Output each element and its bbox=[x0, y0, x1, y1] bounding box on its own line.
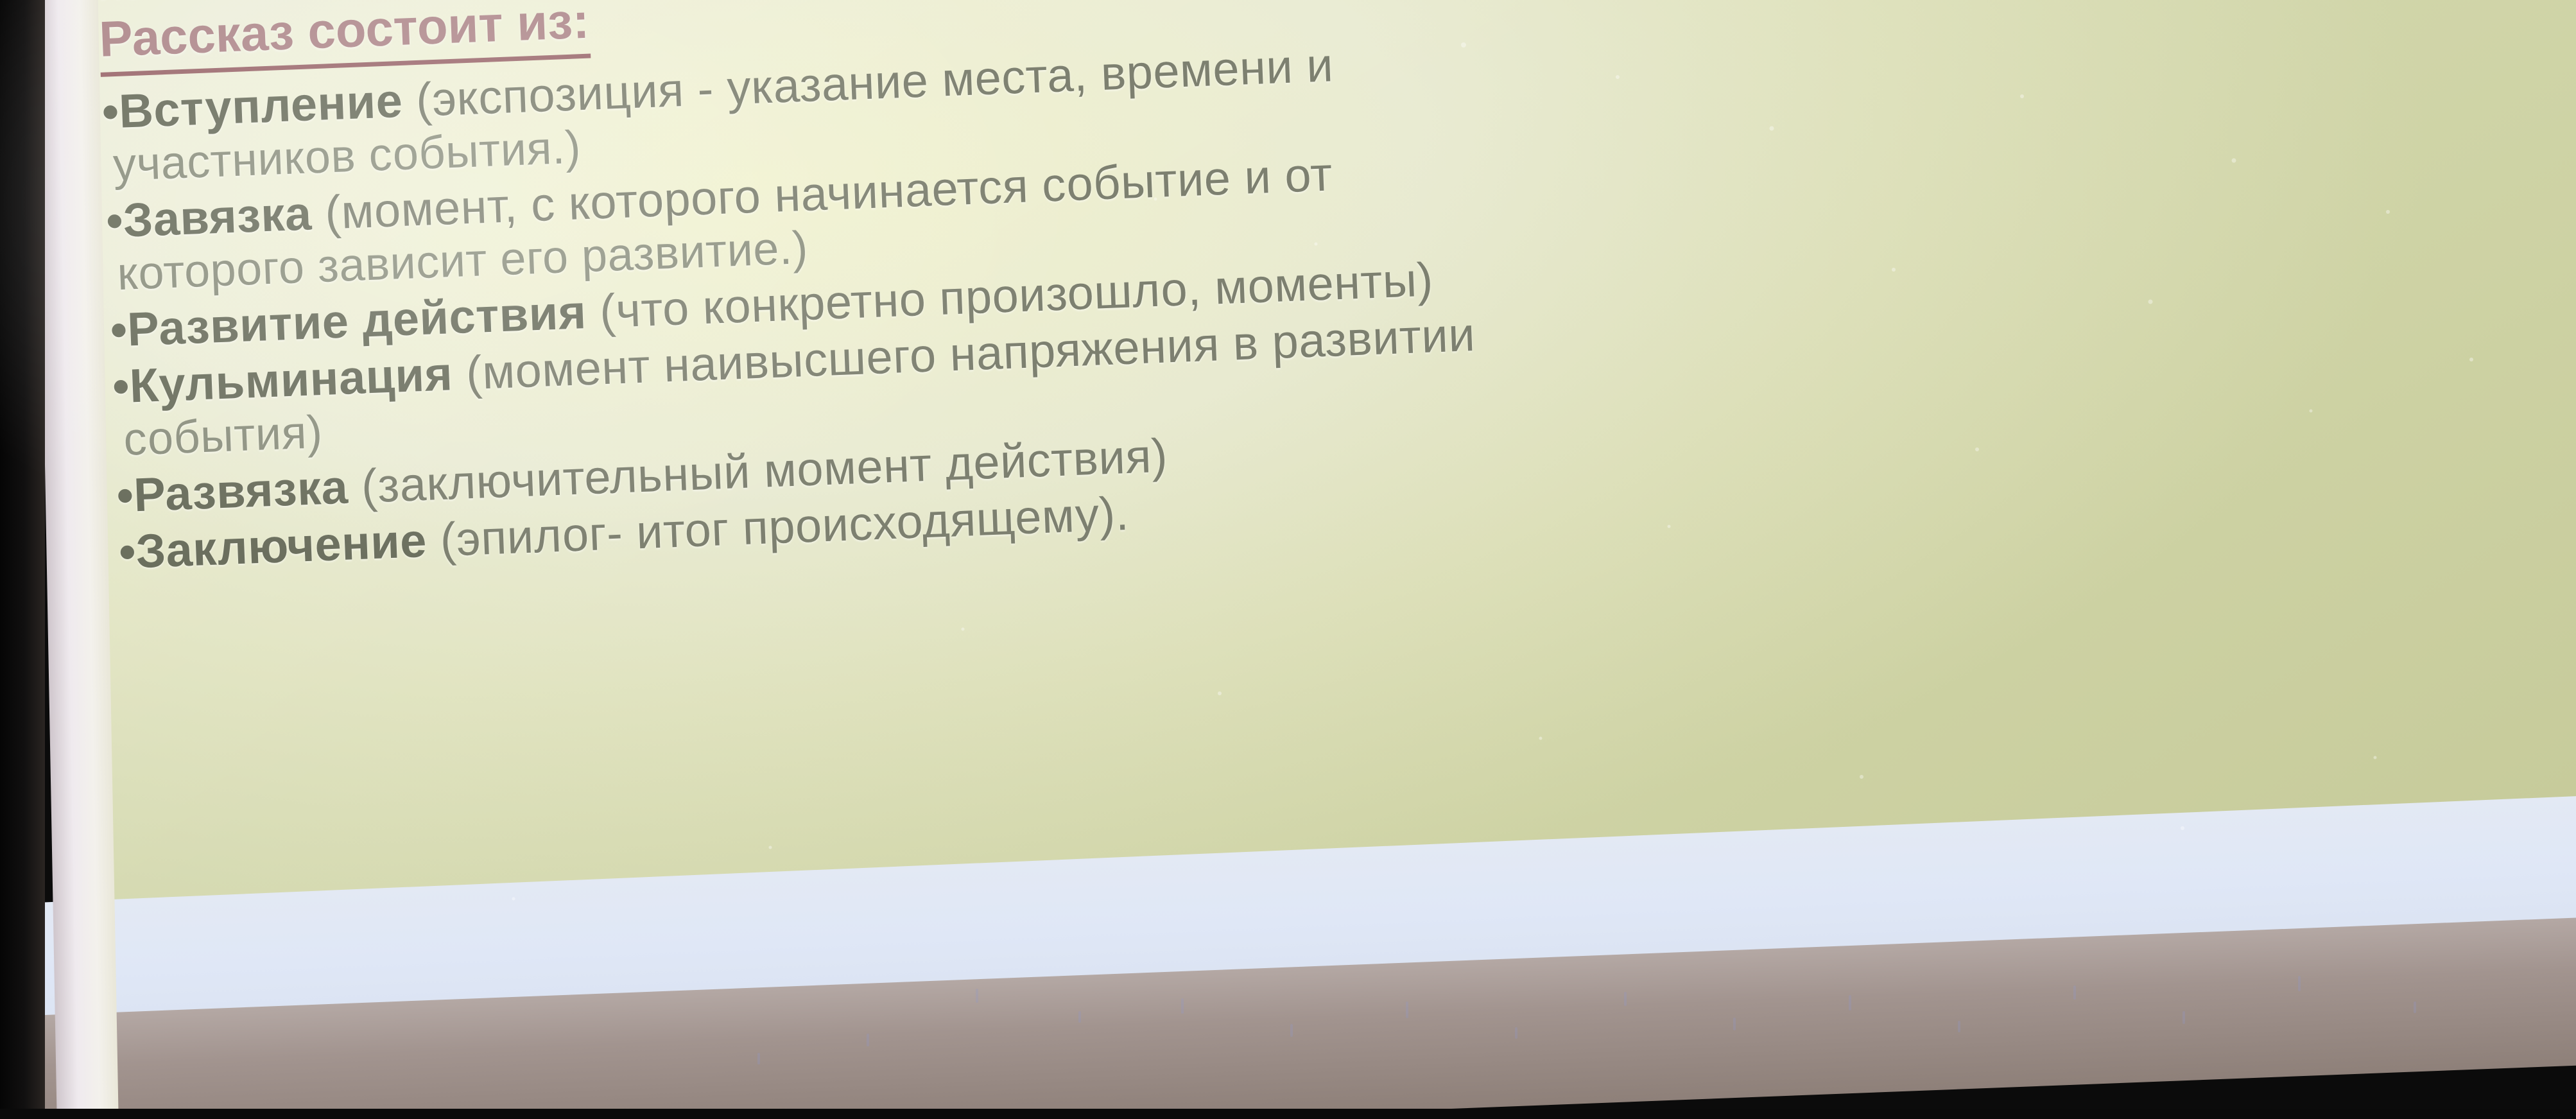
term-label: Кульминация bbox=[128, 347, 453, 412]
term-label: Развязка bbox=[133, 460, 349, 522]
slide-heading: Рассказ состоит из: bbox=[98, 0, 591, 77]
term-label: Вступление bbox=[118, 74, 404, 138]
bullet-icon: • bbox=[118, 525, 137, 578]
bullet-icon: • bbox=[105, 194, 125, 248]
photo-bottom-edge bbox=[0, 1109, 2576, 1119]
bullet-icon: • bbox=[112, 360, 131, 413]
term-label: Заключение bbox=[135, 514, 428, 578]
slide-photograph: из как Рассказ состоит из: •Вступление (… bbox=[0, 0, 2576, 1119]
bullet-icon: • bbox=[101, 85, 120, 139]
slide-text-block: из как Рассказ состоит из: •Вступление (… bbox=[96, 0, 2576, 576]
bullet-icon: • bbox=[116, 468, 135, 522]
term-label: Завязка bbox=[122, 186, 313, 247]
bullet-icon: • bbox=[109, 303, 128, 357]
dark-wall-strip bbox=[0, 0, 45, 1119]
